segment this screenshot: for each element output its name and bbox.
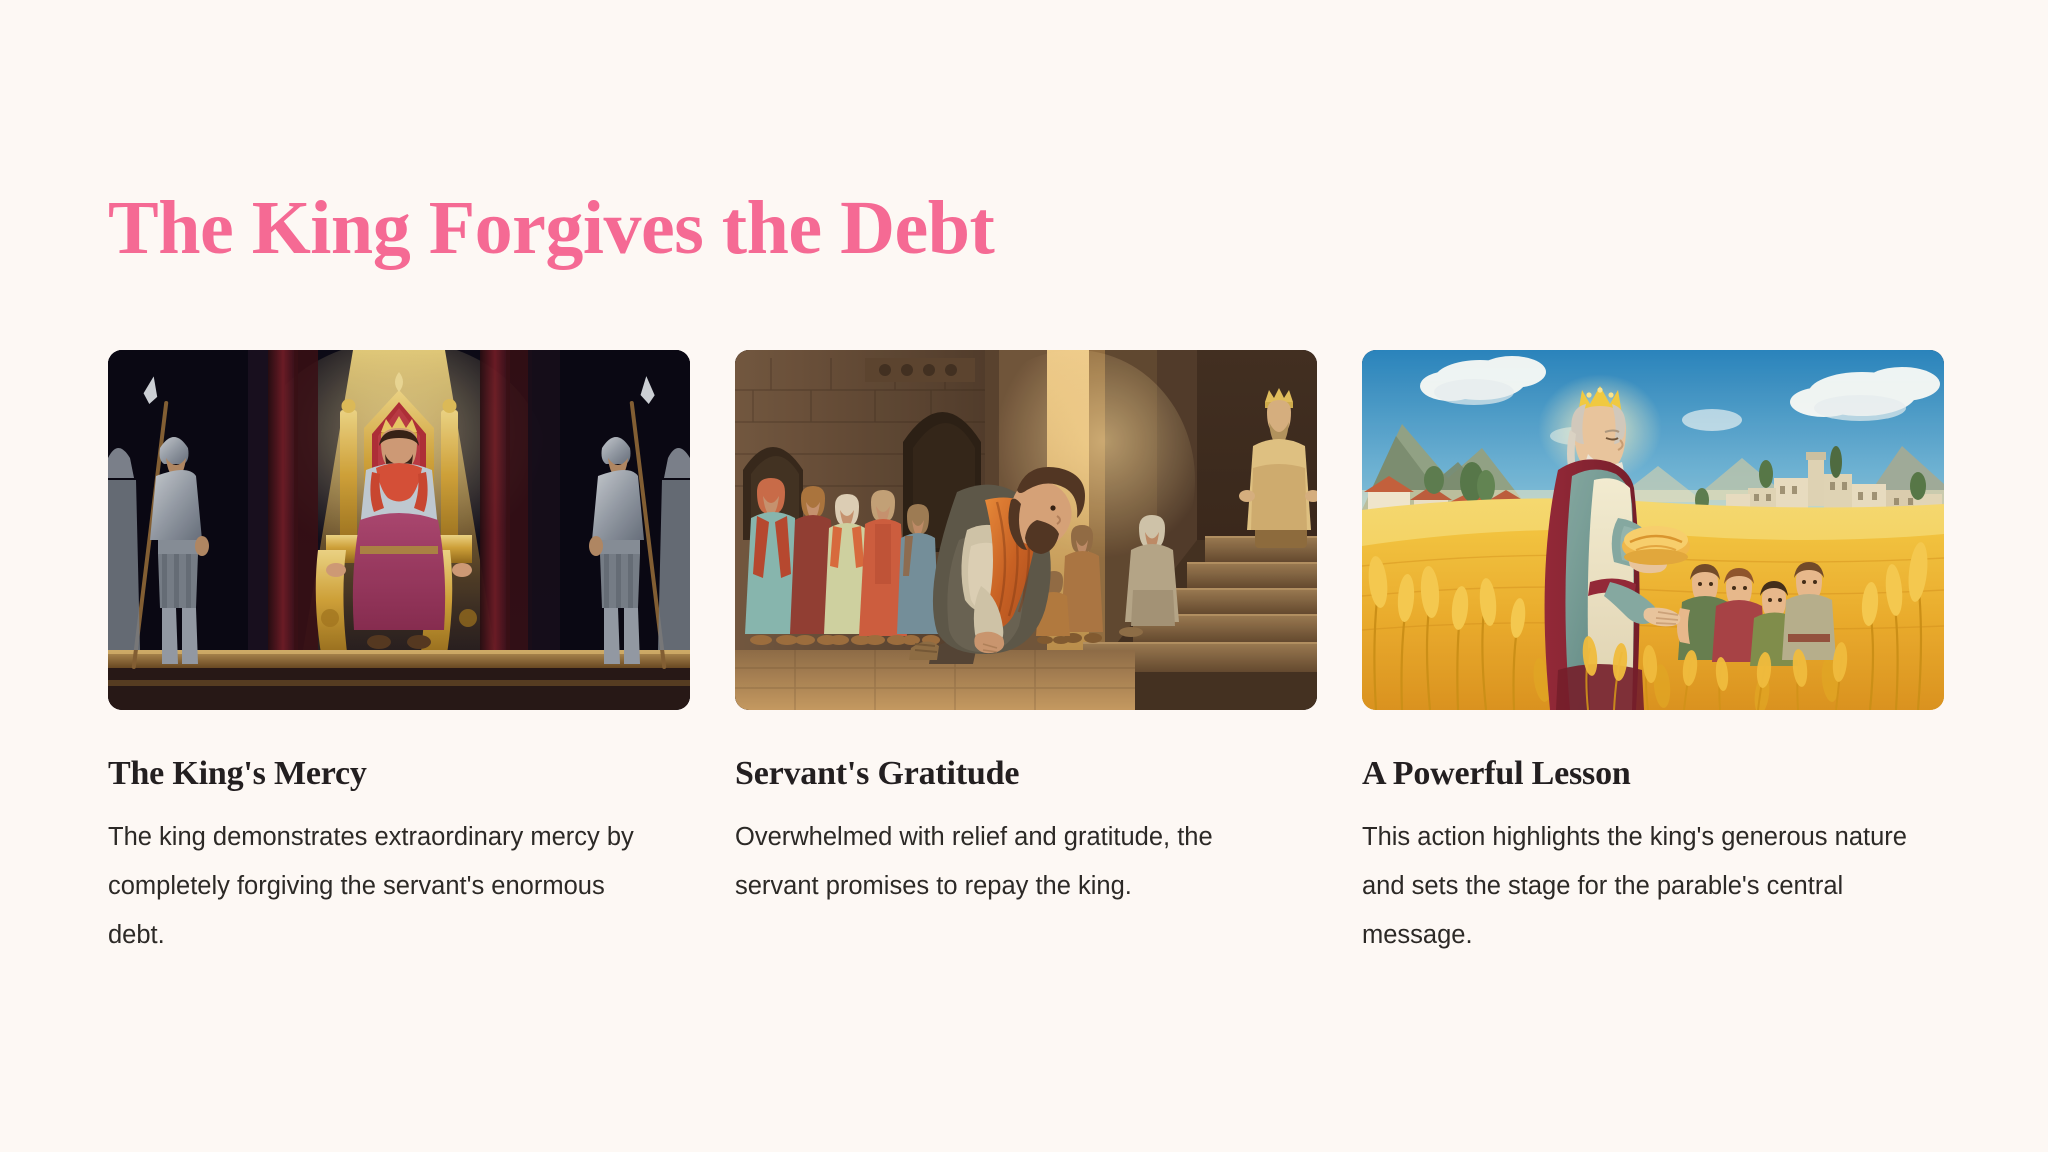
page-title: The King Forgives the Debt [108,190,994,266]
card-a-powerful-lesson[interactable]: A Powerful Lesson This action highlights… [1362,350,1944,960]
throne-room-illustration [108,350,690,710]
king-sharing-bread-illustration [1362,350,1944,710]
card-heading: A Powerful Lesson [1362,754,1944,795]
card-heading: The King's Mercy [108,754,690,795]
kneeling-servant-illustration [735,350,1317,710]
card-body-text: Overwhelmed with relief and gratitude, t… [735,813,1295,911]
card-heading: Servant's Gratitude [735,754,1317,795]
card-body-text: This action highlights the king's genero… [1362,813,1922,960]
page-root: The King Forgives the Debt [0,0,2048,1152]
card-body-text: The king demonstrates extraordinary merc… [108,813,668,960]
card-the-kings-mercy[interactable]: The King's Mercy The king demonstrates e… [108,350,690,960]
card-servants-gratitude[interactable]: Servant's Gratitude Overwhelmed with rel… [735,350,1317,960]
card-grid: The King's Mercy The king demonstrates e… [108,350,1944,960]
